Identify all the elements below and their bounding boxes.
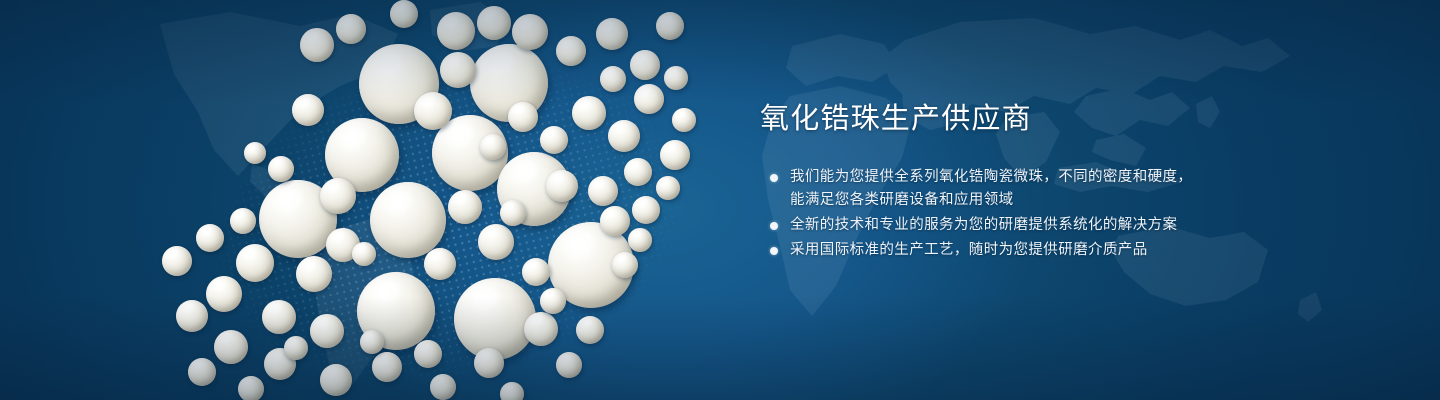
hero-banner: 氧化锆珠生产供应商 我们能为您提供全系列氧化锆陶瓷微珠，不同的密度和硬度， 能满… [0, 0, 1440, 400]
background-edge-shading [0, 0, 1440, 400]
